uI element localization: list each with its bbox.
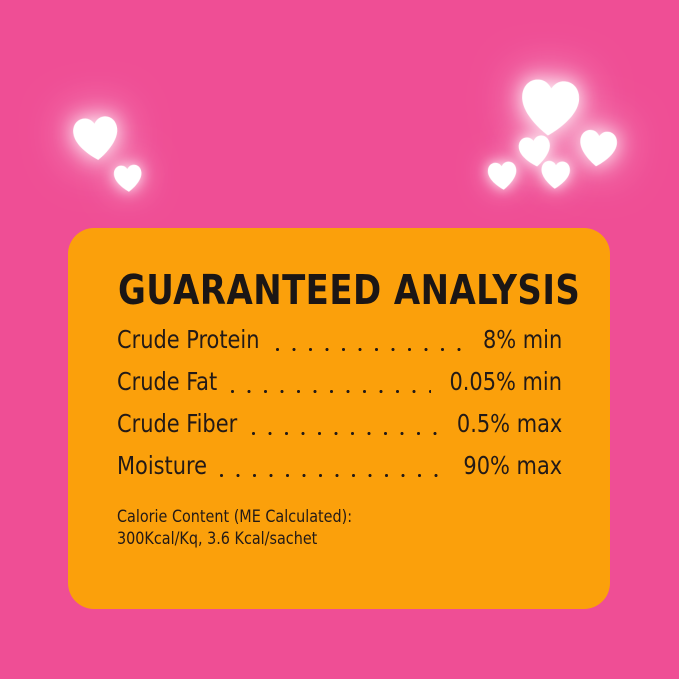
- label-canvas: GUARANTEED ANALYSIS Crude Protein 8% min…: [0, 0, 679, 679]
- nutrient-value: 8% min: [483, 326, 562, 354]
- nutrient-label: Crude Fat: [117, 368, 217, 396]
- table-row: Moisture 90% max: [117, 452, 562, 494]
- leader-dots: [252, 410, 443, 438]
- leader-dots: [231, 368, 435, 396]
- guaranteed-analysis-card: GUARANTEED ANALYSIS Crude Protein 8% min…: [68, 228, 610, 609]
- nutrient-value: 0.5% max: [457, 410, 562, 438]
- table-row: Crude Fiber 0.5% max: [117, 410, 562, 452]
- heart-icon-right-mid: [516, 132, 554, 170]
- nutrient-value: 90% max: [463, 452, 562, 480]
- heart-icon-left-small: [112, 162, 144, 194]
- heart-icon-right-low: [486, 159, 520, 193]
- leader-dots: [220, 452, 450, 480]
- calorie-content-values: 300Kcal/Kq, 3.6 Kcal/sachet: [117, 528, 352, 550]
- nutrient-label: Crude Fiber: [117, 410, 237, 438]
- page-title: GUARANTEED ANALYSIS: [118, 270, 580, 311]
- heart-icon-left-large: [70, 112, 123, 165]
- nutrient-value: 0.05% min: [449, 368, 562, 396]
- heart-icon-right-large: [517, 74, 583, 140]
- table-row: Crude Protein 8% min: [117, 326, 562, 368]
- heart-icon-right-upper: [576, 126, 620, 170]
- heart-icon-right-tiny: [539, 158, 572, 191]
- calorie-content-block: Calorie Content (ME Calculated): 300Kcal…: [117, 506, 352, 550]
- table-row: Crude Fat 0.05% min: [117, 368, 562, 410]
- leader-dots: [276, 326, 471, 354]
- analysis-table: Crude Protein 8% min Crude Fat 0.05% min…: [117, 326, 562, 494]
- nutrient-label: Crude Protein: [117, 326, 259, 354]
- nutrient-label: Moisture: [117, 452, 207, 480]
- calorie-content-heading: Calorie Content (ME Calculated):: [117, 506, 352, 528]
